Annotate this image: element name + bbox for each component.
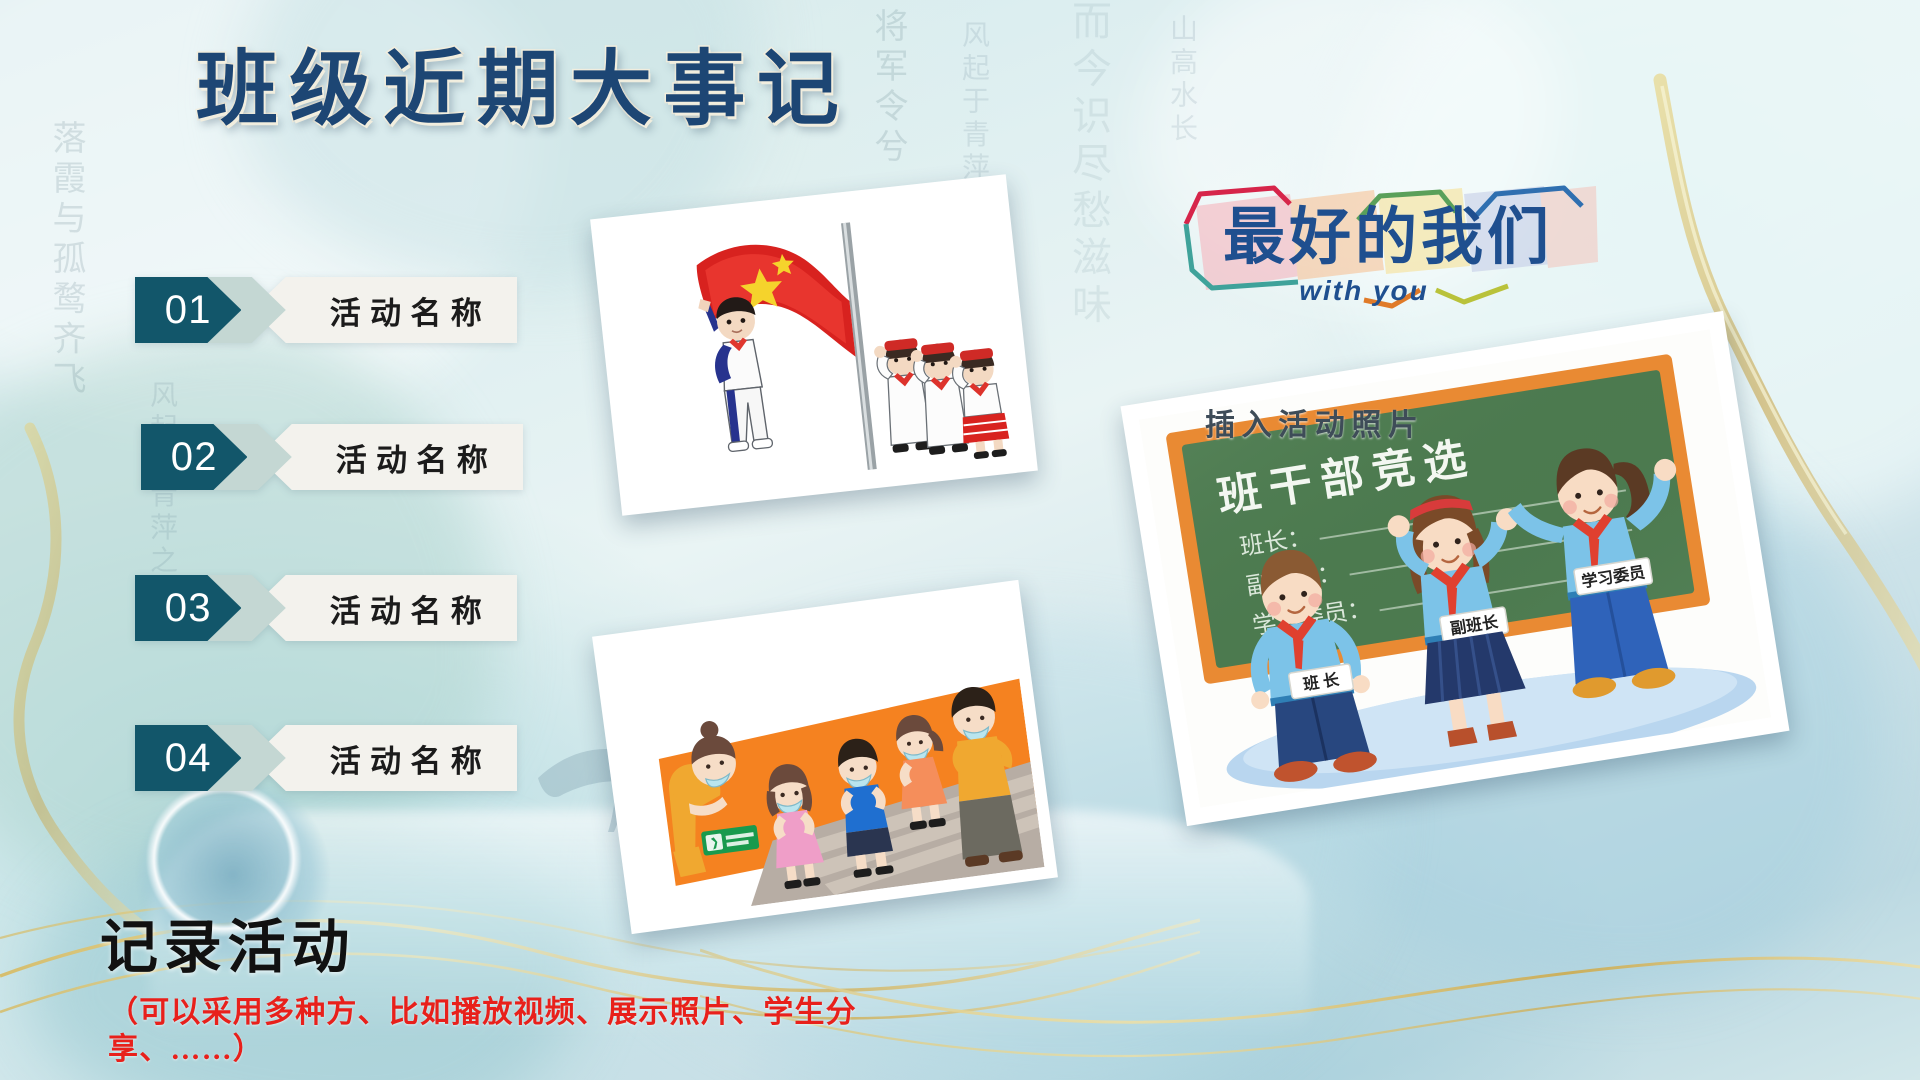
logo-best-of-us: 最好的我们 with you	[1178, 178, 1598, 318]
agenda-label-panel: 活动名称	[252, 575, 517, 641]
agenda-label: 活动名称	[330, 288, 491, 333]
background-calligraphy: 将军令兮	[862, 8, 913, 168]
footer-heading: 记录活动	[100, 900, 355, 984]
evacuation-drill-illustration	[606, 593, 1045, 920]
photo-class-officer-election[interactable]: 班干部竞选 班长： 副班长： 学习委员：	[1121, 311, 1790, 826]
agenda-label: 活动名称	[330, 736, 491, 781]
background-calligraphy: 山高水长	[1160, 14, 1202, 146]
background-calligraphy: 而今识尽愁滋味	[1058, 0, 1118, 330]
photo-evacuation-drill[interactable]	[592, 580, 1058, 934]
agenda-item-03[interactable]: 03 活动名称	[135, 575, 517, 641]
slide-canvas: 将军令兮 风起于青萍之末 而今识尽愁滋味 山高水长 落霞与孤鹜齐飞 风起于青萍之…	[0, 0, 1920, 1080]
agenda-item-02[interactable]: 02 活动名称	[141, 424, 523, 490]
photo-flag-raising-ceremony[interactable]	[590, 174, 1038, 515]
agenda-item-01[interactable]: 01 活动名称	[135, 277, 517, 343]
footer-note: （可以采用多种方、比如播放视频、展示照片、学生分享、……）	[108, 995, 988, 1068]
logo-main-text: 最好的我们	[1223, 203, 1553, 272]
agenda-item-04[interactable]: 04 活动名称	[135, 725, 517, 791]
page-title: 班级近期大事记	[196, 22, 850, 141]
logo-sub-text: with you	[1299, 275, 1429, 306]
agenda-label-panel: 活动名称	[252, 725, 517, 791]
agenda-label: 活动名称	[330, 586, 491, 631]
insert-photo-caption: 插入活动照片	[1205, 400, 1425, 444]
agenda-label-panel: 活动名称	[258, 424, 523, 490]
agenda-label: 活动名称	[336, 435, 497, 480]
flag-raising-illustration	[604, 189, 1023, 499]
agenda-label-panel: 活动名称	[252, 277, 517, 343]
background-calligraphy: 落霞与孤鹜齐飞	[40, 120, 91, 401]
